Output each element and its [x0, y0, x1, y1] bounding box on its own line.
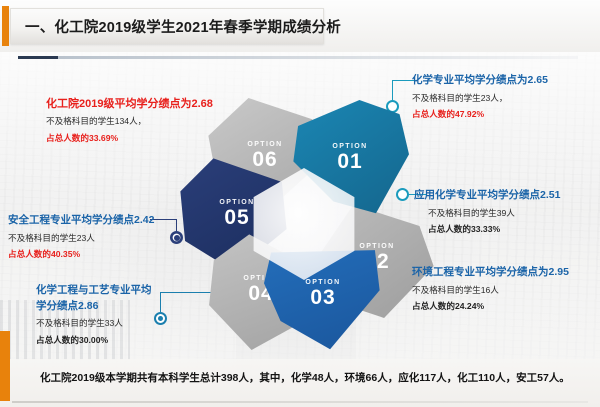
petal-caption: OPTION	[332, 143, 367, 150]
annotation-applied-chemistry: 应用化学专业平均学分绩点2.51 不及格科目的学生39人 占总人数的33.33%	[414, 188, 560, 236]
petal-caption: OPTION	[359, 243, 394, 250]
title-plate: 一、化工院2019级学生2021年春季学期成绩分析	[10, 8, 324, 44]
annotation-overall: 化工院2019级平均学分绩点为2.68 不及格科目的学生134人， 占总人数的3…	[46, 96, 213, 145]
annotation-detail: 不及格科目的学生39人	[428, 207, 560, 220]
petal-caption: OPTION	[219, 199, 254, 206]
annotation-detail: 不及格科目的学生16人	[412, 284, 569, 297]
annotation-detail: 不及格科目的学生23人	[8, 232, 154, 245]
annotation-environmental-engineering: 环境工程专业平均学分绩点为2.95 不及格科目的学生16人 占总人数的24.24…	[412, 265, 569, 313]
petal-number: 01	[337, 150, 362, 174]
petal-number: 05	[224, 206, 249, 230]
title-accent-bar	[2, 6, 9, 46]
footer-accent-bar	[0, 331, 10, 401]
annotation-detail: 不及格科目的学生134人，	[46, 115, 213, 128]
annotation-headline: 安全工程专业平均学分绩点2.42	[8, 213, 154, 229]
annotation-detail: 不及格科目的学生23人，	[412, 92, 548, 105]
annotation-headline: 化学工程与工艺专业平均学分绩点2.86	[36, 283, 160, 314]
page-title: 一、化工院2019级学生2021年春季学期成绩分析	[11, 16, 341, 37]
hexagon-infographic: OPTION 06 OPTION 05 OPTION 04 OPTION 02 …	[178, 96, 428, 351]
petal-number: 03	[310, 286, 335, 310]
footer-summary: 化工院2019级本学期共有本科学生总计398人，其中，化学48人，环境66人，应…	[40, 370, 585, 385]
annotation-headline: 化工院2019级平均学分绩点为2.68	[46, 96, 213, 112]
annotation-headline: 环境工程专业平均学分绩点为2.95	[412, 265, 569, 281]
annotation-chemical-engineering: 化学工程与工艺专业平均学分绩点2.86 不及格科目的学生33人 占总人数的30.…	[36, 283, 160, 347]
footer-divider-rule	[12, 401, 588, 403]
annotation-percent: 占总人数的33.33%	[428, 223, 560, 236]
petal-caption: OPTION	[247, 141, 282, 148]
annotation-percent: 占总人数的47.92%	[412, 108, 548, 121]
annotation-percent: 占总人数的33.69%	[46, 132, 213, 145]
petal-number: 06	[252, 148, 277, 172]
annotation-detail: 不及格科目的学生33人	[36, 317, 160, 330]
annotation-chemistry: 化学专业平均学分绩点为2.65 不及格科目的学生23人， 占总人数的47.92%	[412, 73, 548, 121]
annotation-percent: 占总人数的30.00%	[36, 334, 160, 347]
title-divider-rule	[18, 56, 578, 59]
annotation-headline: 应用化学专业平均学分绩点2.51	[414, 188, 560, 204]
annotation-safety-engineering: 安全工程专业平均学分绩点2.42 不及格科目的学生23人 占总人数的40.35%	[8, 213, 154, 261]
annotation-percent: 占总人数的24.24%	[412, 300, 569, 313]
petal-caption: OPTION	[305, 279, 340, 286]
annotation-headline: 化学专业平均学分绩点为2.65	[412, 73, 548, 89]
annotation-percent: 占总人数的40.35%	[8, 248, 154, 261]
